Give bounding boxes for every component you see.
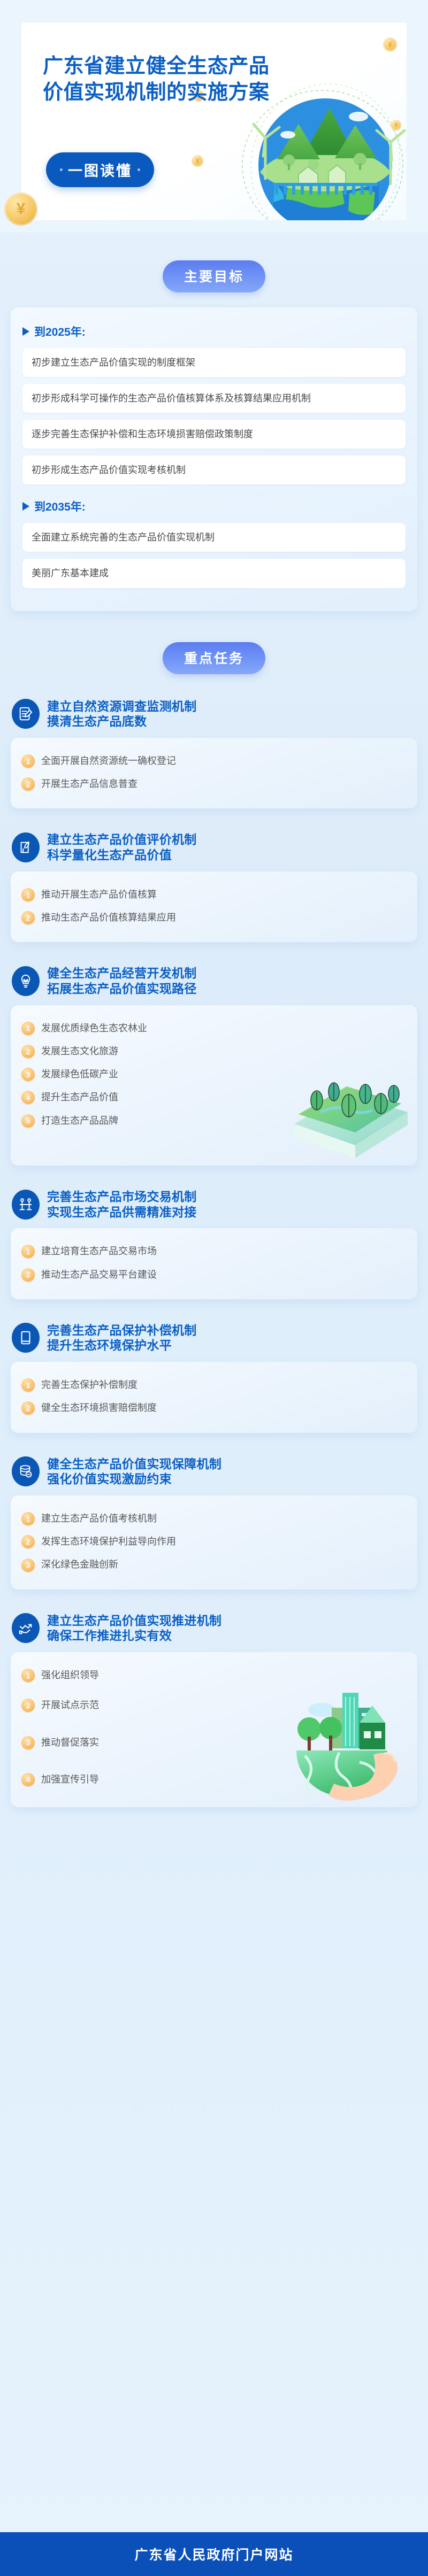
task-title: 建立自然资源调查监测机制 摸清生态产品底数 [47, 699, 197, 730]
task-sub-item: 4 加强宣传引导 [21, 1761, 407, 1788]
task-sub-item: 2 发挥生态环境保护利益导向作用 [21, 1530, 407, 1553]
task-sub-label: 开展试点示范 [41, 1699, 99, 1712]
task-title-line2: 拓展生态产品价值实现路径 [47, 981, 197, 997]
task-sub-item: 2 开展试点示范 [21, 1687, 407, 1724]
item-number-badge: 1 [21, 1378, 35, 1392]
goal-item: 美丽广东基本建成 [22, 559, 406, 588]
task-header: 完善生态产品市场交易机制 实现生态产品供需精准对接 [11, 1175, 417, 1229]
item-number-badge: 1 [21, 1245, 35, 1258]
task-title-line2: 科学量化生态产品价值 [47, 847, 197, 863]
task-header: 健全生态产品价值实现保障机制 强化价值实现激励约束 [11, 1443, 417, 1496]
task-sub-label: 提升生态产品价值 [41, 1091, 118, 1104]
badge-dot-left [60, 168, 63, 171]
coin-icon: ¥ [391, 120, 401, 130]
task-body: 1 建立生态产品价值考核机制 2 发挥生态环境保护利益导向作用 3 深化绿色金融… [11, 1495, 417, 1590]
hero-banner: ¥ ¥ ¥ ¥ 广东省建立健全生态产品价值实现机制的实施方案 一图读懂 ¥ [0, 0, 428, 233]
goal-group-heading: 到2035年: [22, 498, 406, 514]
task-sub-label: 建立生态产品价值考核机制 [41, 1512, 157, 1525]
task-sub-item: 1 强化组织领导 [21, 1664, 407, 1687]
book-icon [12, 1323, 40, 1353]
item-number-badge: 4 [21, 1773, 35, 1786]
triangle-bullet-icon [22, 502, 29, 511]
task-card: 建立生态产品价值实现推进机制 确保工作推进扎实有效 [11, 1599, 417, 1808]
task-sub-item: 2 发展生态文化旅游 [21, 1040, 407, 1063]
goals-card: 到2025年: 初步建立生态产品价值实现的制度框架 初步形成科学可操作的生态产品… [11, 307, 417, 611]
task-title: 建立生态产品价值实现推进机制 确保工作推进扎实有效 [47, 1613, 221, 1644]
item-number-badge: 2 [21, 1268, 35, 1282]
task-card: 建立自然资源调查监测机制 摸清生态产品底数 1 全面开展自然资源统一确权登记 2… [11, 685, 417, 809]
task-header: 建立生态产品价值评价机制 科学量化生态产品价值 [11, 818, 417, 871]
item-number-badge: 2 [21, 911, 35, 924]
task-sub-label: 完善生态保护补偿制度 [41, 1378, 137, 1392]
task-sub-item: 2 推动生态产品价值核算结果应用 [21, 906, 407, 929]
clipboard-leaf-icon [12, 832, 40, 862]
task-header: 建立生态产品价值实现推进机制 确保工作推进扎实有效 [11, 1599, 417, 1653]
task-title-line1: 完善生态产品市场交易机制 [47, 1189, 197, 1205]
task-sub-label: 发展绿色低碳产业 [41, 1068, 118, 1081]
task-title-line1: 建立生态产品价值评价机制 [47, 832, 197, 847]
task-sub-label: 发展优质绿色生态农林业 [41, 1022, 147, 1035]
task-sub-item: 5 打造生态产品品牌 [21, 1109, 407, 1132]
item-number-badge: 2 [21, 1401, 35, 1415]
tasks-section-header: 重点任务 [0, 642, 428, 674]
task-body: 1 完善生态保护补偿制度 2 健全生态环境损害赔偿制度 [11, 1362, 417, 1432]
task-title-line1: 建立自然资源调查监测机制 [47, 699, 197, 714]
item-number-badge: 4 [21, 1091, 35, 1104]
task-sub-label: 健全生态环境损害赔偿制度 [41, 1401, 157, 1415]
task-body: 1 推动开展生态产品价值核算 2 推动生态产品价值核算结果应用 [11, 871, 417, 942]
task-title-line2: 摸清生态产品底数 [47, 714, 197, 729]
task-card: 健全生态产品价值实现保障机制 强化价值实现激励约束 1 建立生态产品价值考核机制… [11, 1443, 417, 1590]
task-sub-item: 2 推动生态产品交易平台建设 [21, 1263, 407, 1286]
item-number-badge: 2 [21, 1699, 35, 1712]
goal-heading-label: 到2025年: [34, 323, 86, 340]
task-sub-item: 3 推动督促落实 [21, 1724, 407, 1761]
item-number-badge: 1 [21, 1669, 35, 1682]
task-sub-item: 1 全面开展自然资源统一确权登记 [21, 750, 407, 773]
task-sub-item: 3 深化绿色金融创新 [21, 1553, 407, 1576]
task-card: 建立生态产品价值评价机制 科学量化生态产品价值 1 推动开展生态产品价值核算 2… [11, 818, 417, 942]
task-header: 健全生态产品经营开发机制 拓展生态产品价值实现路径 [11, 952, 417, 1005]
coins-stack-icon [12, 1456, 40, 1486]
item-number-badge: 2 [21, 1535, 35, 1548]
item-number-badge: 3 [21, 1736, 35, 1749]
task-sub-item: 1 完善生态保护补偿制度 [21, 1374, 407, 1397]
hand-growth-icon [12, 1613, 40, 1643]
tasks-list: 建立自然资源调查监测机制 摸清生态产品底数 1 全面开展自然资源统一确权登记 2… [0, 685, 428, 1817]
task-title: 完善生态产品保护补偿机制 提升生态环境保护水平 [47, 1323, 197, 1354]
footer-bar: 广东省人民政府门户网站 [0, 2532, 428, 2576]
goal-item: 全面建立系统完善的生态产品价值实现机制 [22, 523, 406, 552]
task-sub-label: 强化组织领导 [41, 1669, 99, 1682]
task-header: 建立自然资源调查监测机制 摸清生态产品底数 [11, 685, 417, 738]
task-sub-label: 深化绿色金融创新 [41, 1558, 118, 1571]
task-sub-label: 加强宣传引导 [41, 1773, 99, 1786]
task-sub-label: 打造生态产品品牌 [41, 1114, 118, 1128]
item-number-badge: 1 [21, 1022, 35, 1035]
lightbulb-leaf-icon [12, 966, 40, 996]
task-sub-item: 2 健全生态环境损害赔偿制度 [21, 1397, 407, 1420]
task-title-line2: 实现生态产品供需精准对接 [47, 1205, 197, 1220]
item-number-badge: 1 [21, 754, 35, 768]
task-title: 健全生态产品经营开发机制 拓展生态产品价值实现路径 [47, 966, 197, 997]
hero-card: ¥ ¥ ¥ ¥ 广东省建立健全生态产品价值实现机制的实施方案 一图读懂 [21, 22, 407, 220]
goal-heading-label: 到2035年: [34, 498, 86, 514]
task-sub-label: 推动督促落实 [41, 1736, 99, 1749]
document-pen-icon [12, 699, 40, 729]
task-sub-label: 推动开展生态产品价值核算 [41, 888, 157, 901]
task-title: 健全生态产品价值实现保障机制 强化价值实现激励约束 [47, 1456, 221, 1487]
goals-section-header: 主要目标 [0, 260, 428, 292]
task-sub-item: 1 发展优质绿色生态农林业 [21, 1017, 407, 1040]
task-sub-item: 1 建立培育生态产品交易市场 [21, 1240, 407, 1263]
task-sub-label: 推动生态产品价值核算结果应用 [41, 911, 176, 924]
page-title: 广东省建立健全生态产品价值实现机制的实施方案 [43, 53, 273, 105]
goal-group-heading: 到2025年: [22, 323, 406, 340]
coin-icon: ¥ [383, 37, 397, 51]
task-card: 完善生态产品保护补偿机制 提升生态环境保护水平 1 完善生态保护补偿制度 2 健… [11, 1309, 417, 1433]
task-sub-label: 全面开展自然资源统一确权登记 [41, 754, 176, 768]
task-sub-label: 推动生态产品交易平台建设 [41, 1268, 157, 1282]
goals-pill-label: 主要目标 [163, 260, 265, 292]
task-title-line2: 确保工作推进扎实有效 [47, 1628, 221, 1644]
read-in-one-picture-badge: 一图读懂 [46, 152, 154, 187]
task-sub-label: 开展生态产品信息普查 [41, 777, 137, 791]
task-header: 完善生态产品保护补偿机制 提升生态环境保护水平 [11, 1309, 417, 1362]
item-number-badge: 5 [21, 1114, 35, 1128]
task-title-line1: 健全生态产品价值实现保障机制 [47, 1456, 221, 1472]
task-title: 建立生态产品价值评价机制 科学量化生态产品价值 [47, 832, 197, 863]
task-title-line1: 健全生态产品经营开发机制 [47, 966, 197, 981]
goal-item: 初步形成生态产品价值实现考核机制 [22, 456, 406, 484]
item-number-badge: 2 [21, 1045, 35, 1058]
task-title-line1: 建立生态产品价值实现推进机制 [47, 1613, 221, 1629]
coin-icon: ¥ [192, 155, 203, 167]
task-sub-item: 2 开展生态产品信息普查 [21, 773, 407, 796]
handshake-table-icon [12, 1190, 40, 1220]
badge-dot-right [137, 168, 140, 171]
goal-item: 初步建立生态产品价值实现的制度框架 [22, 348, 406, 377]
task-sub-label: 发展生态文化旅游 [41, 1045, 118, 1058]
task-body: 1 建立培育生态产品交易市场 2 推动生态产品交易平台建设 [11, 1228, 417, 1299]
task-sub-item: 1 推动开展生态产品价值核算 [21, 883, 407, 906]
task-body: 1 全面开展自然资源统一确权登记 2 开展生态产品信息普查 [11, 738, 417, 808]
task-sub-label: 建立培育生态产品交易市场 [41, 1245, 157, 1258]
coin-icon-large: ¥ [4, 192, 37, 226]
footer-label: 广东省人民政府门户网站 [134, 2544, 293, 2564]
item-number-badge: 3 [21, 1068, 35, 1081]
task-card: 健全生态产品经营开发机制 拓展生态产品价值实现路径 [11, 952, 417, 1166]
item-number-badge: 1 [21, 888, 35, 901]
triangle-bullet-icon [22, 327, 29, 336]
task-title: 完善生态产品市场交易机制 实现生态产品供需精准对接 [47, 1189, 197, 1220]
goal-item: 逐步完善生态保护补偿和生态环境损害赔偿政策制度 [22, 420, 406, 449]
tasks-pill-label: 重点任务 [163, 642, 265, 674]
goal-item: 初步形成科学可操作的生态产品价值核算体系及核算结果应用机制 [22, 384, 406, 413]
task-sub-item: 3 发展绿色低碳产业 [21, 1063, 407, 1086]
task-title-line2: 提升生态环境保护水平 [47, 1338, 197, 1353]
item-number-badge: 2 [21, 777, 35, 791]
item-number-badge: 3 [21, 1559, 35, 1572]
task-body: 1 强化组织领导 2 开展试点示范 3 推动督促落实 4 加强宣传引导 [11, 1652, 417, 1807]
bottom-spacer [0, 1817, 428, 1881]
badge-label: 一图读懂 [68, 159, 132, 180]
task-sub-item: 4 提升生态产品价值 [21, 1086, 407, 1109]
task-title-line1: 完善生态产品保护补偿机制 [47, 1323, 197, 1338]
task-title-line2: 强化价值实现激励约束 [47, 1471, 221, 1487]
task-sub-label: 发挥生态环境保护利益导向作用 [41, 1535, 176, 1548]
task-sub-item: 1 建立生态产品价值考核机制 [21, 1507, 407, 1530]
item-number-badge: 1 [21, 1512, 35, 1525]
task-body: 1 发展优质绿色生态农林业 2 发展生态文化旅游 3 发展绿色低碳产业 4 提升… [11, 1005, 417, 1166]
infographic-page: ¥ ¥ ¥ ¥ 广东省建立健全生态产品价值实现机制的实施方案 一图读懂 ¥ 主要… [0, 0, 428, 2576]
task-card: 完善生态产品市场交易机制 实现生态产品供需精准对接 1 建立培育生态产品交易市场… [11, 1175, 417, 1299]
